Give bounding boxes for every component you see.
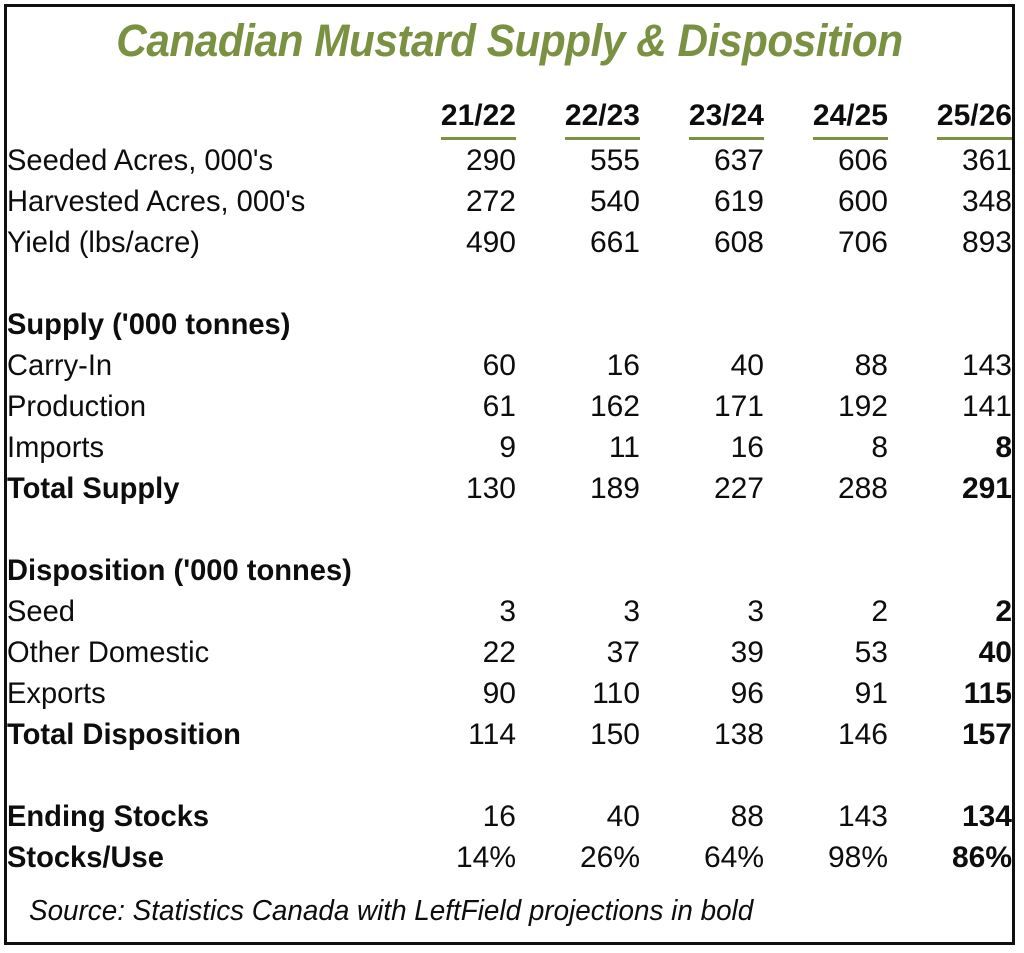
cell-harvested-acres-2425: 600: [764, 181, 888, 222]
table-row-seed: Seed 3 3 3 2 2: [7, 591, 1012, 632]
row-label-production: Production: [7, 386, 380, 427]
cell-supply-header-2526: [888, 304, 1012, 345]
row-label-imports: Imports: [7, 427, 380, 468]
row-label-other-domestic: Other Domestic: [7, 632, 380, 673]
column-header-2425: 24/25: [764, 95, 888, 140]
row-label-total-supply: Total Supply: [7, 468, 380, 509]
cell-production-2526: 141: [888, 386, 1012, 427]
table-row-carry-in: Carry-In 60 16 40 88 143: [7, 345, 1012, 386]
table-row-imports: Imports 9 11 16 8 8: [7, 427, 1012, 468]
spacer-row-3: [7, 755, 1012, 796]
table-frame: Canadian Mustard Supply & Disposition 21…: [4, 4, 1015, 945]
cell-carry-in-2526: 143: [888, 345, 1012, 386]
cell-production-2324: 171: [640, 386, 764, 427]
spacer-cell: [516, 263, 640, 304]
source-note: Source: Statistics Canada with LeftField…: [29, 894, 753, 928]
row-label-seed: Seed: [7, 591, 380, 632]
cell-ending-stocks-2122: 16: [392, 796, 516, 837]
cell-carry-in-2425: 88: [764, 345, 888, 386]
row-label-yield: Yield (lbs/acre): [7, 222, 380, 263]
table-row-disposition-section: Disposition ('000 tonnes): [7, 550, 1012, 591]
table-row-production: Production 61 162 171 192 141: [7, 386, 1012, 427]
cell-exports-2223: 110: [516, 673, 640, 714]
spacer-cell: [516, 509, 640, 550]
cell-seeded-acres-2425: 606: [764, 140, 888, 181]
cell-production-2122: 61: [392, 386, 516, 427]
cell-other-domestic-2526: 40: [888, 632, 1012, 673]
table-row-other-domestic: Other Domestic 22 37 39 53 40: [7, 632, 1012, 673]
column-header-2324: 23/24: [640, 95, 764, 140]
cell-stocks-use-2324: 64%: [640, 837, 764, 878]
table-header-row: 21/22 22/23 23/24 24/25 25/26: [7, 95, 1012, 140]
cell-stocks-use-2122: 14%: [392, 837, 516, 878]
table-row-seeded-acres: Seeded Acres, 000's 290 555 637 606 361: [7, 140, 1012, 181]
page-title: Canadian Mustard Supply & Disposition: [37, 15, 982, 67]
cell-imports-2324: 16: [640, 427, 764, 468]
table-row-total-supply: Total Supply 130 189 227 288 291: [7, 468, 1012, 509]
cell-seeded-acres-2223: 555: [516, 140, 640, 181]
cell-total-supply-2122: 130: [392, 468, 516, 509]
table-row-harvested-acres: Harvested Acres, 000's 272 540 619 600 3…: [7, 181, 1012, 222]
cell-seed-2122: 3: [392, 591, 516, 632]
cell-supply-header-2223: [516, 304, 640, 345]
cell-yield-2425: 706: [764, 222, 888, 263]
cell-imports-2223: 11: [516, 427, 640, 468]
cell-other-domestic-2324: 39: [640, 632, 764, 673]
cell-harvested-acres-2122: 272: [392, 181, 516, 222]
table-row-ending-stocks: Ending Stocks 16 40 88 143 134: [7, 796, 1012, 837]
cell-seeded-acres-2526: 361: [888, 140, 1012, 181]
cell-yield-2122: 490: [392, 222, 516, 263]
section-header-disposition: Disposition ('000 tonnes): [7, 550, 380, 591]
cell-exports-2526: 115: [888, 673, 1012, 714]
table-row-supply-section: Supply ('000 tonnes): [7, 304, 1012, 345]
cell-other-domestic-2425: 53: [764, 632, 888, 673]
cell-disposition-header-2425: [764, 550, 888, 591]
cell-exports-2324: 96: [640, 673, 764, 714]
spacer-cell: [7, 509, 392, 550]
spacer-cell: [888, 263, 1012, 304]
cell-production-2425: 192: [764, 386, 888, 427]
cell-seed-2324: 3: [640, 591, 764, 632]
cell-ending-stocks-2223: 40: [516, 796, 640, 837]
cell-disposition-header-2526: [888, 550, 1012, 591]
cell-ending-stocks-2324: 88: [640, 796, 764, 837]
cell-stocks-use-2223: 26%: [516, 837, 640, 878]
header-blank-cell: [7, 95, 392, 140]
cell-exports-2425: 91: [764, 673, 888, 714]
spacer-cell: [392, 509, 516, 550]
table-row-yield: Yield (lbs/acre) 490 661 608 706 893: [7, 222, 1012, 263]
cell-production-2223: 162: [516, 386, 640, 427]
cell-other-domestic-2122: 22: [392, 632, 516, 673]
spacer-cell: [764, 755, 888, 796]
spacer-cell: [640, 755, 764, 796]
column-header-2526: 25/26: [888, 95, 1012, 140]
spacer-cell: [516, 755, 640, 796]
cell-disposition-header-2324: [640, 550, 764, 591]
row-label-stocks-use: Stocks/Use: [7, 837, 380, 878]
spacer-row-1: [7, 263, 1012, 304]
spacer-cell: [392, 263, 516, 304]
spacer-cell: [640, 263, 764, 304]
row-label-ending-stocks: Ending Stocks: [7, 796, 380, 837]
column-header-2122: 21/22: [392, 95, 516, 140]
cell-supply-header-2324: [640, 304, 764, 345]
table-row-exports: Exports 90 110 96 91 115: [7, 673, 1012, 714]
table-row-stocks-use: Stocks/Use 14% 26% 64% 98% 86%: [7, 837, 1012, 878]
cell-stocks-use-2425: 98%: [764, 837, 888, 878]
row-label-total-disposition: Total Disposition: [7, 714, 380, 755]
cell-total-supply-2425: 288: [764, 468, 888, 509]
spacer-cell: [888, 755, 1012, 796]
cell-harvested-acres-2223: 540: [516, 181, 640, 222]
spacer-cell: [7, 263, 392, 304]
cell-imports-2526: 8: [888, 427, 1012, 468]
cell-disposition-header-2223: [516, 550, 640, 591]
spacer-row-2: [7, 509, 1012, 550]
cell-yield-2324: 608: [640, 222, 764, 263]
spacer-cell: [888, 509, 1012, 550]
cell-total-disposition-2223: 150: [516, 714, 640, 755]
cell-seed-2526: 2: [888, 591, 1012, 632]
cell-stocks-use-2526: 86%: [888, 837, 1012, 878]
spacer-cell: [764, 263, 888, 304]
cell-supply-header-2425: [764, 304, 888, 345]
row-label-carry-in: Carry-In: [7, 345, 380, 386]
cell-seed-2425: 2: [764, 591, 888, 632]
row-label-exports: Exports: [7, 673, 380, 714]
cell-seeded-acres-2324: 637: [640, 140, 764, 181]
cell-total-supply-2223: 189: [516, 468, 640, 509]
cell-yield-2223: 661: [516, 222, 640, 263]
cell-total-disposition-2425: 146: [764, 714, 888, 755]
cell-ending-stocks-2526: 134: [888, 796, 1012, 837]
cell-seeded-acres-2122: 290: [392, 140, 516, 181]
cell-other-domestic-2223: 37: [516, 632, 640, 673]
row-label-seeded-acres: Seeded Acres, 000's: [7, 140, 380, 181]
cell-carry-in-2122: 60: [392, 345, 516, 386]
spacer-cell: [7, 755, 392, 796]
cell-imports-2425: 8: [764, 427, 888, 468]
cell-total-supply-2526: 291: [888, 468, 1012, 509]
spacer-cell: [392, 755, 516, 796]
table-row-total-disposition: Total Disposition 114 150 138 146 157: [7, 714, 1012, 755]
cell-total-disposition-2122: 114: [392, 714, 516, 755]
spacer-cell: [640, 509, 764, 550]
cell-carry-in-2223: 16: [516, 345, 640, 386]
cell-harvested-acres-2324: 619: [640, 181, 764, 222]
spacer-cell: [764, 509, 888, 550]
cell-supply-header-2122: [392, 304, 516, 345]
cell-total-disposition-2526: 157: [888, 714, 1012, 755]
column-header-2223: 22/23: [516, 95, 640, 140]
cell-seed-2223: 3: [516, 591, 640, 632]
row-label-harvested-acres: Harvested Acres, 000's: [7, 181, 380, 222]
section-header-supply: Supply ('000 tonnes): [7, 304, 380, 345]
cell-carry-in-2324: 40: [640, 345, 764, 386]
cell-exports-2122: 90: [392, 673, 516, 714]
cell-yield-2526: 893: [888, 222, 1012, 263]
cell-ending-stocks-2425: 143: [764, 796, 888, 837]
cell-total-disposition-2324: 138: [640, 714, 764, 755]
cell-harvested-acres-2526: 348: [888, 181, 1012, 222]
supply-disposition-table: 21/22 22/23 23/24 24/25 25/26 Seeded Acr…: [7, 95, 1012, 878]
cell-imports-2122: 9: [392, 427, 516, 468]
cell-disposition-header-2122: [392, 550, 516, 591]
cell-total-supply-2324: 227: [640, 468, 764, 509]
